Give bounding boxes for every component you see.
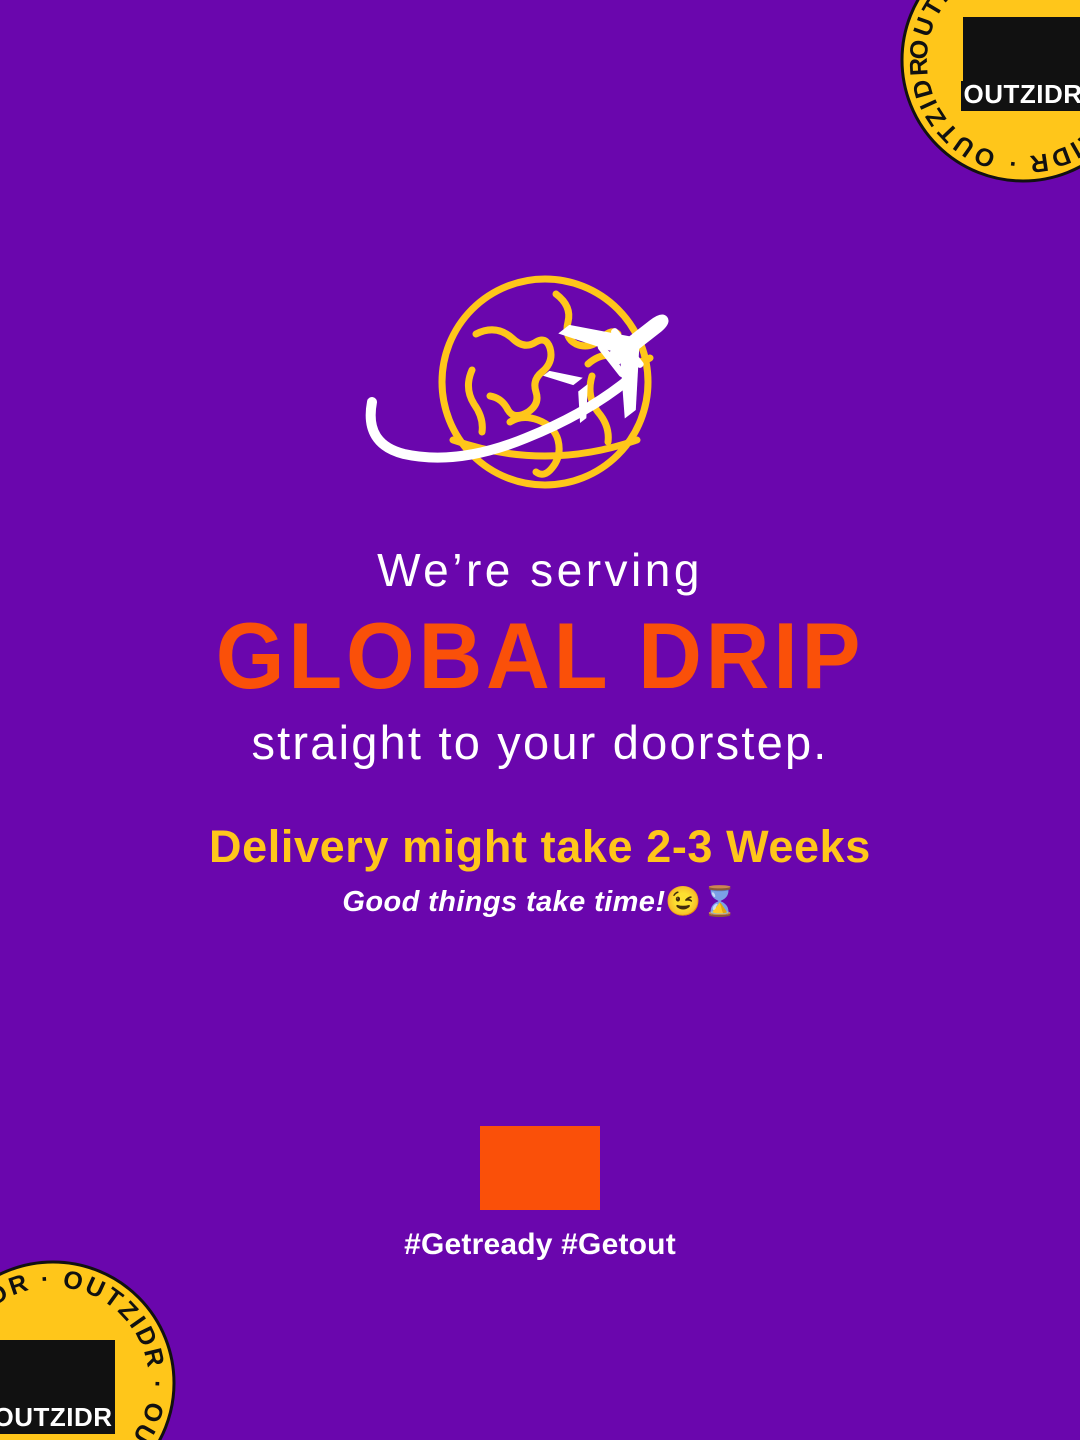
footer-block: #Getready #Getout [0, 1124, 1080, 1261]
winking-face-emoji: 😉 [665, 886, 701, 918]
outzidr-z-logo [478, 1124, 602, 1212]
svg-text:OUTZIDR: OUTZIDR [0, 1402, 113, 1432]
corner-badge-bottom-left: OUTZIDR · OUTZIDR · OUTZIDR · OUTZIDR · … [0, 1258, 178, 1440]
headline-line-1: We’re serving [0, 545, 1080, 597]
hourglass-emoji: ⌛ [702, 886, 738, 918]
headline-main: GLOBAL DRIP [32, 609, 1047, 703]
delivery-subtext: Good things take time! [342, 886, 665, 918]
corner-badge-top-right: OUTZIDR · OUTZIDR · OUTZIDR · OUTZIDR · … [898, 0, 1080, 185]
delivery-subtext-row: Good things take time!😉⌛ [0, 886, 1080, 919]
svg-text:OUTZIDR: OUTZIDR [963, 79, 1080, 109]
headline-line-3: straight to your doorstep. [0, 717, 1080, 769]
headline-block: We’re serving GLOBAL DRIP straight to yo… [0, 545, 1080, 768]
svg-text:OUTZIDR · OUTZIDR · OUTZIDR ·: OUTZIDR · OUTZIDR · OUTZIDR · OUTZIDR · … [0, 1258, 171, 1440]
hashtags-text: #Getready #Getout [0, 1228, 1080, 1261]
poster-canvas: OUTZIDR · OUTZIDR · OUTZIDR · OUTZIDR · … [0, 0, 1080, 1440]
delivery-notice-block: Delivery might take 2-3 Weeks Good thing… [0, 822, 1080, 919]
svg-text:OUTZIDR · OUTZIDR · OUTZIDR ·: OUTZIDR · OUTZIDR · OUTZIDR · OUTZIDR · … [898, 0, 1080, 178]
delivery-headline: Delivery might take 2-3 Weeks [0, 822, 1080, 872]
globe-with-airplane-icon [360, 272, 720, 512]
